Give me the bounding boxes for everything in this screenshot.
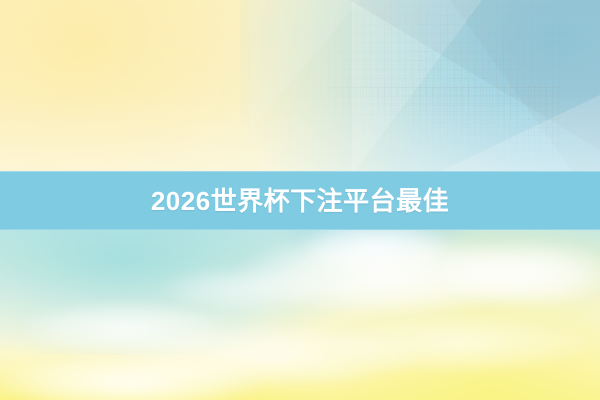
page-title: 2026世界杯下注平台最佳 bbox=[151, 188, 449, 214]
background-sky-artwork bbox=[0, 205, 600, 400]
poster-canvas: 2026世界杯下注平台最佳 bbox=[0, 0, 600, 400]
cloud-shape bbox=[160, 267, 330, 311]
title-banner: 2026世界杯下注平台最佳 bbox=[0, 171, 600, 230]
cloud-shape bbox=[330, 315, 590, 373]
